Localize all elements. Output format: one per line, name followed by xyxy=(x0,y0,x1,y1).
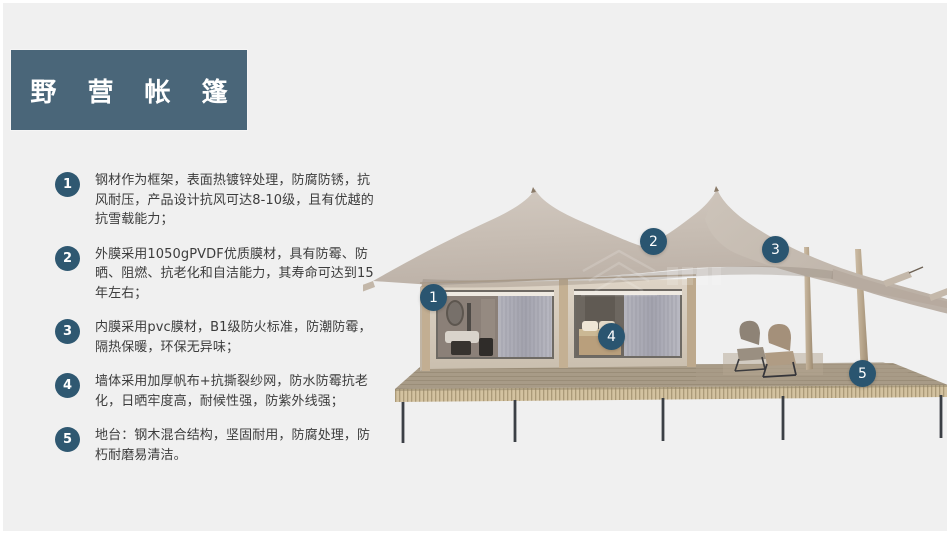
deck-platform-callout[interactable]: 5 xyxy=(849,360,876,387)
inner-membrane-callout[interactable]: 3 xyxy=(762,236,789,263)
window-left xyxy=(436,290,554,359)
list-item: 2 外膜采用1050gPVDF优质膜材，具有防霉、防晒、阻燃、抗老化和自洁能力，… xyxy=(55,245,377,304)
feature-number-badge: 5 xyxy=(55,427,80,452)
feature-list: 1 钢材作为框架，表面热镀锌处理，防腐防锈，抗风耐压，产品设计抗风可达8-10级… xyxy=(55,171,377,465)
feature-number-badge: 4 xyxy=(55,373,80,398)
terrace-pole-outer xyxy=(855,249,869,376)
canopy-peak-tips xyxy=(531,186,719,193)
list-item: 1 钢材作为框架，表面热镀锌处理，防腐防锈，抗风耐压，产品设计抗风可达8-10级… xyxy=(55,171,377,230)
corner-post-right xyxy=(687,278,696,367)
feature-text: 墙体采用加厚帆布+抗撕裂纱网，防水防霉抗老化，日晒牢度高，耐候性强，防紫外线强； xyxy=(95,372,377,411)
left-guy-strap xyxy=(363,281,375,299)
slide-canvas: 野 营 帐 篷 1 钢材作为框架，表面热镀锌处理，防腐防锈，抗风耐压，产品设计抗… xyxy=(0,0,950,534)
feature-text: 钢材作为框架，表面热镀锌处理，防腐防锈，抗风耐压，产品设计抗风可达8-10级，且… xyxy=(95,171,377,230)
feature-number-badge: 1 xyxy=(55,172,80,197)
list-item: 3 内膜采用pvc膜材，B1级防火标准，防潮防霉，隔热保暖，环保无异味； xyxy=(55,318,377,357)
page-title: 野 营 帐 篷 xyxy=(19,72,238,109)
window-right xyxy=(574,289,682,358)
tent-canopy-right-wing xyxy=(705,189,950,309)
feature-number-badge: 3 xyxy=(55,319,80,344)
title-banner: 野 营 帐 篷 xyxy=(11,50,247,130)
feature-text: 地台：钢木混合结构，坚固耐用，防腐处理，防朽耐磨易清洁。 xyxy=(95,426,377,465)
feature-text: 外膜采用1050gPVDF优质膜材，具有防霉、防晒、阻燃、抗老化和自洁能力，其寿… xyxy=(95,245,377,304)
wall-fabric-callout[interactable]: 4 xyxy=(598,323,625,350)
feature-text: 内膜采用pvc膜材，B1级防火标准，防潮防霉，隔热保暖，环保无异味； xyxy=(95,318,377,357)
steel-frame-callout[interactable]: 1 xyxy=(420,284,447,311)
feature-number-badge: 2 xyxy=(55,246,80,271)
deck-support-legs xyxy=(403,395,941,443)
list-item: 4 墙体采用加厚帆布+抗撕裂纱网，防水防霉抗老化，日晒牢度高，耐候性强，防紫外线… xyxy=(55,372,377,411)
outer-membrane-callout[interactable]: 2 xyxy=(640,228,667,255)
tent-illustration xyxy=(363,153,950,453)
list-item: 5 地台：钢木混合结构，坚固耐用，防腐处理，防朽耐磨易清洁。 xyxy=(55,426,377,465)
corner-post-mid xyxy=(559,279,568,368)
